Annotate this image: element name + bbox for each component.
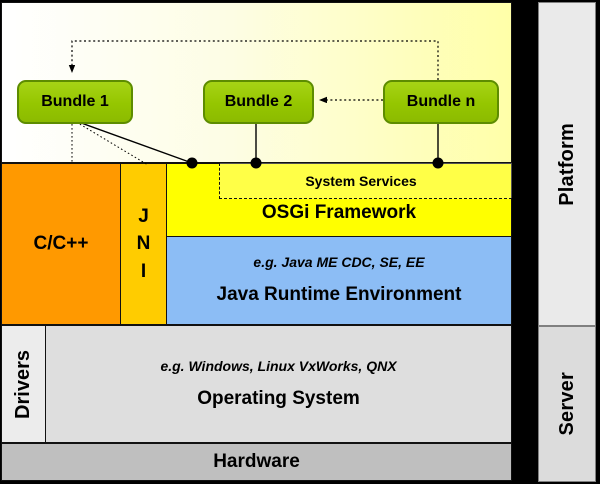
rail-platform-label: Platform — [556, 123, 579, 206]
layer-c-cpp-label: C/C++ — [34, 233, 89, 256]
layer-hardware[interactable]: Hardware — [1, 443, 512, 481]
rail-server-label: Server — [556, 372, 579, 435]
diagram-canvas: C/C++ J N I OSGi Framework e.g. Java ME … — [0, 0, 600, 484]
rail-server[interactable]: Server — [538, 326, 596, 482]
layer-operating-system[interactable]: e.g. Windows, Linux VxWorks, QNX Operati… — [45, 325, 512, 443]
architecture-stack: C/C++ J N I OSGi Framework e.g. Java ME … — [0, 0, 527, 484]
bundle-1[interactable]: Bundle 1 — [17, 80, 133, 124]
layer-jni-label: J N I — [137, 203, 151, 286]
system-services-region[interactable]: System Services — [219, 163, 512, 199]
layer-jre-label: Java Runtime Environment — [217, 284, 462, 307]
bundle-1-label: Bundle 1 — [41, 93, 109, 111]
bundle-n-label: Bundle n — [407, 93, 475, 111]
bundle-n[interactable]: Bundle n — [383, 80, 499, 124]
layer-osgi-framework-label: OSGi Framework — [262, 202, 416, 225]
bundle-2[interactable]: Bundle 2 — [203, 80, 314, 124]
layer-drivers[interactable]: Drivers — [1, 325, 46, 443]
layer-jre-example: e.g. Java ME CDC, SE, EE — [253, 254, 424, 270]
layer-operating-system-label: Operating System — [197, 388, 360, 411]
rail-platform[interactable]: Platform — [538, 2, 596, 326]
layer-drivers-label: Drivers — [12, 350, 35, 419]
layer-java-runtime-environment[interactable]: e.g. Java ME CDC, SE, EE Java Runtime En… — [166, 236, 512, 325]
layer-os-example: e.g. Windows, Linux VxWorks, QNX — [160, 358, 396, 374]
system-services-label: System Services — [305, 173, 426, 189]
layer-jni[interactable]: J N I — [120, 163, 167, 325]
bundle-2-label: Bundle 2 — [225, 93, 293, 111]
layer-hardware-label: Hardware — [213, 451, 300, 474]
layer-c-cpp[interactable]: C/C++ — [1, 163, 121, 325]
scope-rail: Platform Server — [538, 2, 598, 482]
